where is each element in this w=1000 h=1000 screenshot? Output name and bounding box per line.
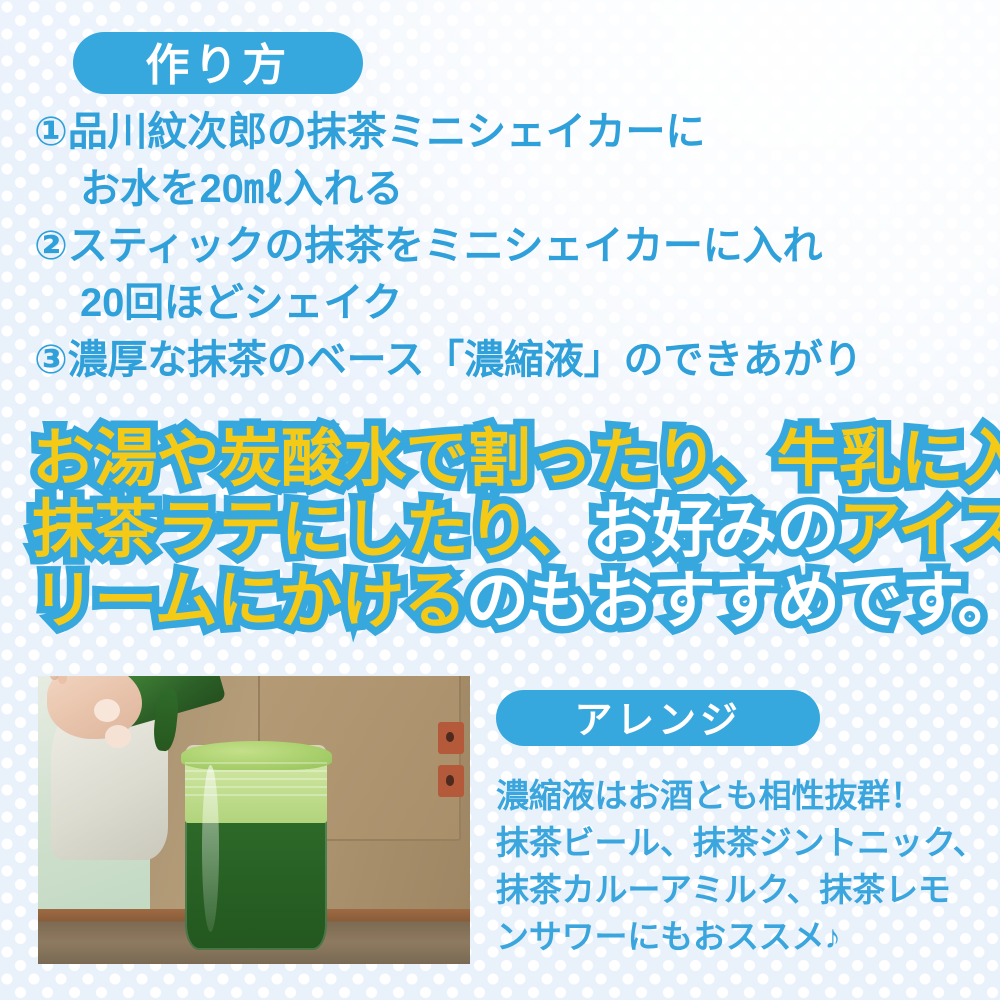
step-item: ②スティックの抹茶をミニシェイカーに入れ 20回ほどシェイク — [34, 218, 974, 332]
headline-line-2: 抹茶ラテにしたり、お好みのアイスク — [32, 495, 982, 566]
step-text-line1: 品川紋次郎の抹茶ミニシェイカーに — [68, 110, 705, 154]
arrange-line: ンサワーにもおススメ♪ — [496, 913, 996, 960]
photo-finger — [50, 676, 59, 680]
photo-wooden-table — [38, 909, 470, 964]
headline-block: お湯や炭酸水で割ったり、牛乳に入れ 抹茶ラテにしたり、お好みのアイスク リームに… — [32, 424, 982, 637]
step-item: ③濃厚な抹茶のベース「濃縮液」のできあがり — [34, 332, 974, 389]
step-text-line2: 20回ほどシェイク — [34, 275, 974, 332]
photo-cup-rings — [185, 762, 328, 799]
step-text-line1: 濃厚な抹茶のベース「濃縮液」のできあがり — [68, 338, 863, 382]
arrange-line: 抹茶カルーアミルク、抹茶レモ — [496, 866, 996, 913]
photo-fingernail — [94, 699, 120, 722]
headline-line1-yellow: お湯や炭酸水で割ったり、牛乳に入れ — [32, 424, 1000, 494]
howto-steps-list: ①品川紋次郎の抹茶ミニシェイカーに お水を20㎖入れる ②スティックの抹茶をミニ… — [34, 104, 974, 389]
photo-cup-highlight — [202, 765, 219, 932]
step-item: ①品川紋次郎の抹茶ミニシェイカーに お水を20㎖入れる — [34, 104, 974, 218]
photo-shirt — [51, 693, 168, 860]
howto-badge-label: 作り方 — [145, 29, 290, 93]
photo-pouring-stream — [151, 687, 179, 752]
photo-milk-layer — [185, 760, 328, 823]
step-number: ② — [34, 224, 68, 268]
arrange-badge-label: アレンジ — [574, 689, 741, 744]
photo-shaker — [100, 676, 227, 730]
photo-table-edge — [38, 909, 470, 921]
headline-line-1: お湯や炭酸水で割ったり、牛乳に入れ — [32, 424, 982, 495]
photo-matcha-foam — [181, 741, 332, 770]
photo-hand — [47, 676, 142, 739]
step-number: ① — [34, 110, 68, 154]
photo-apron-strap-bottom — [438, 765, 464, 797]
headline-line-3: リームにかけるのもおすすめです。 — [32, 566, 982, 637]
infographic-page: 作り方 ①品川紋次郎の抹茶ミニシェイカーに お水を20㎖入れる ②スティックの抹… — [0, 0, 1000, 1000]
headline-line3-yellow: リームにかける — [32, 566, 466, 636]
step-text-line2: お水を20㎖入れる — [34, 161, 974, 218]
photo-fingernail — [105, 725, 131, 748]
arrange-line: 濃縮液はお酒とも相性抜群！ — [496, 772, 996, 819]
arrange-section-badge: アレンジ — [496, 690, 820, 746]
arrange-line: 抹茶ビール、抹茶ジントニック、 — [496, 819, 996, 866]
arrange-description: 濃縮液はお酒とも相性抜群！ 抹茶ビール、抹茶ジントニック、 抹茶カルーアミルク、… — [496, 772, 996, 960]
photo-apron-strap-top — [438, 722, 464, 754]
headline-line2-white: お好みの — [590, 495, 839, 565]
headline-line3-white: のもおすすめです。 — [466, 566, 1000, 636]
step-number: ③ — [34, 338, 68, 382]
matcha-drink-photo — [38, 676, 470, 964]
photo-apron — [150, 676, 470, 964]
howto-section-badge: 作り方 — [73, 32, 363, 94]
photo-apron-pocket — [258, 676, 461, 841]
photo-finger — [58, 676, 67, 684]
headline-line2-yellow-b: アイスク — [839, 495, 1000, 565]
headline-line2-yellow-a: 抹茶ラテにしたり、 — [32, 495, 590, 565]
step-text-line1: スティックの抹茶をミニシェイカーに入れ — [68, 224, 823, 268]
photo-cup — [185, 745, 328, 949]
photo-background-wall — [38, 676, 181, 964]
